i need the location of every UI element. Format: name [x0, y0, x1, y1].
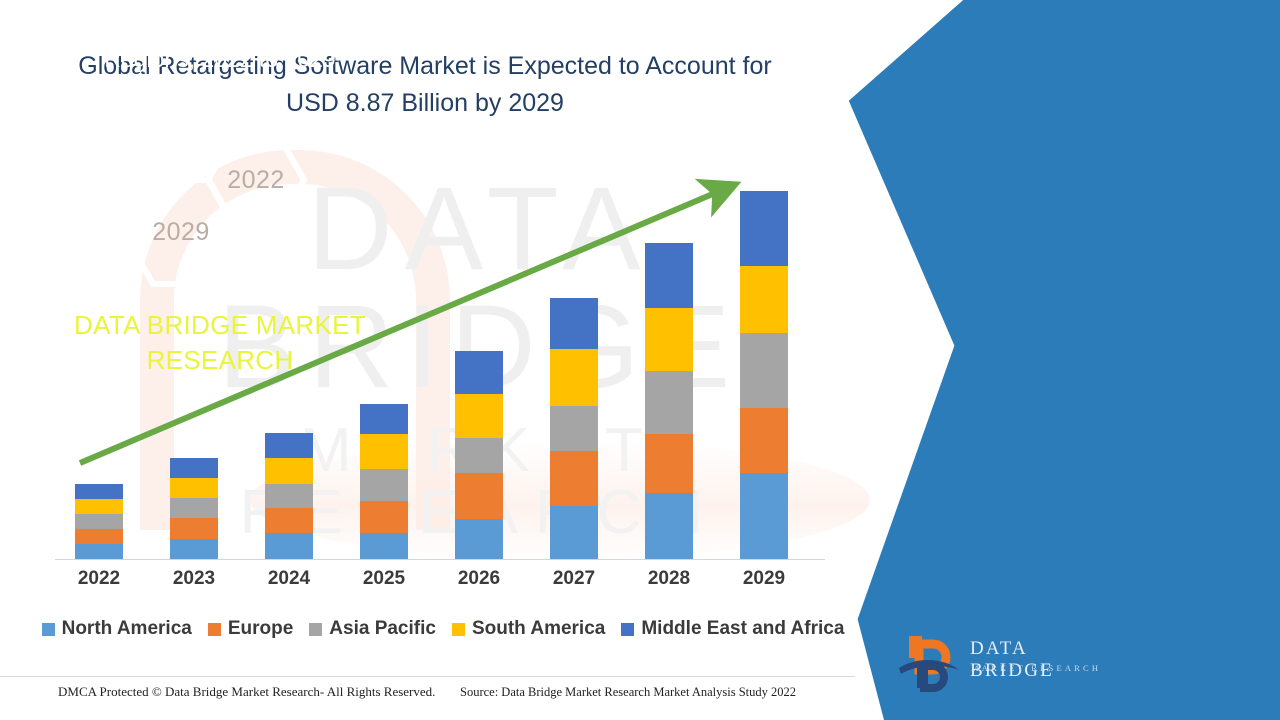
bar-segment-asia-pacific[interactable]	[75, 514, 123, 529]
dbmr-mark-icon	[895, 632, 967, 692]
legend-label: Asia Pacific	[329, 618, 436, 640]
bar-segment-middle-east-and-africa[interactable]	[740, 191, 788, 266]
footer-divider	[0, 676, 855, 677]
bar-segment-asia-pacific[interactable]	[265, 484, 313, 508]
x-axis-label-2023: 2023	[154, 568, 234, 590]
bar-segment-middle-east-and-africa[interactable]	[550, 298, 598, 349]
bar-segment-middle-east-and-africa[interactable]	[645, 243, 693, 308]
bar-segment-south-america[interactable]	[360, 434, 408, 469]
x-axis-label-2027: 2027	[534, 568, 614, 590]
bar-segment-europe[interactable]	[740, 408, 788, 473]
bar-segment-north-america[interactable]	[740, 473, 788, 559]
legend-swatch	[309, 623, 322, 636]
bar-segment-europe[interactable]	[645, 434, 693, 493]
hexagon-group: 2029 2022	[120, 132, 340, 292]
bar-2022[interactable]	[75, 484, 123, 559]
bar-segment-south-america[interactable]	[170, 478, 218, 498]
bar-segment-asia-pacific[interactable]	[740, 333, 788, 408]
bar-segment-middle-east-and-africa[interactable]	[170, 458, 218, 478]
bar-segment-north-america[interactable]	[455, 519, 503, 559]
x-axis-line	[55, 559, 825, 560]
bar-segment-europe[interactable]	[265, 508, 313, 533]
logo-wordmark: DATA BRIDGE	[970, 638, 1110, 682]
bar-segment-asia-pacific[interactable]	[455, 438, 503, 473]
bar-segment-asia-pacific[interactable]	[170, 498, 218, 518]
bar-segment-south-america[interactable]	[645, 308, 693, 371]
bar-segment-asia-pacific[interactable]	[360, 469, 408, 501]
bar-segment-north-america[interactable]	[75, 544, 123, 559]
bar-segment-europe[interactable]	[455, 473, 503, 519]
legend-item-south-america[interactable]: South America	[452, 618, 605, 640]
bar-segment-europe[interactable]	[550, 451, 598, 506]
x-axis-label-2028: 2028	[629, 568, 709, 590]
legend-item-europe[interactable]: Europe	[208, 618, 293, 640]
dbmr-logo: DATA BRIDGE MARKET RESEARCH	[895, 632, 1110, 694]
bar-segment-middle-east-and-africa[interactable]	[360, 404, 408, 434]
bar-segment-north-america[interactable]	[645, 493, 693, 559]
bar-segment-north-america[interactable]	[550, 506, 598, 559]
logo-subwordmark: MARKET RESEARCH	[971, 663, 1111, 673]
legend-label: Middle East and Africa	[641, 618, 844, 640]
bar-segment-middle-east-and-africa[interactable]	[455, 351, 503, 394]
hexagon-2022-label: 2022	[227, 166, 285, 195]
x-axis-labels: 20222023202420252026202720282029	[55, 568, 825, 598]
bar-segment-asia-pacific[interactable]	[550, 406, 598, 451]
bar-segment-middle-east-and-africa[interactable]	[75, 484, 123, 499]
x-axis-label-2022: 2022	[59, 568, 139, 590]
right-panel	[840, 0, 1280, 720]
legend-item-north-america[interactable]: North America	[42, 618, 192, 640]
bar-segment-south-america[interactable]	[75, 499, 123, 514]
x-axis-label-2026: 2026	[439, 568, 519, 590]
bar-segment-north-america[interactable]	[265, 533, 313, 559]
bar-2029[interactable]	[740, 191, 788, 559]
bar-2023[interactable]	[170, 458, 218, 559]
bar-2025[interactable]	[360, 404, 408, 559]
legend-swatch	[621, 623, 634, 636]
bar-2024[interactable]	[265, 433, 313, 559]
bar-segment-south-america[interactable]	[265, 458, 313, 484]
bar-segment-north-america[interactable]	[360, 533, 408, 559]
bar-segment-asia-pacific[interactable]	[645, 371, 693, 434]
bar-segment-north-america[interactable]	[170, 539, 218, 559]
bar-2026[interactable]	[455, 351, 503, 559]
bar-segment-europe[interactable]	[360, 501, 408, 533]
infographic-canvas: DATA BRIDGE MARKET RESEARCH Global Retar…	[0, 0, 1280, 720]
legend-item-asia-pacific[interactable]: Asia Pacific	[309, 618, 436, 640]
brand-name: DATA BRIDGE MARKET RESEARCH	[0, 308, 440, 378]
legend-label: North America	[62, 618, 192, 640]
footer-source: Source: Data Bridge Market Research Mark…	[460, 685, 796, 700]
legend-swatch	[208, 623, 221, 636]
bar-segment-south-america[interactable]	[550, 349, 598, 406]
legend-swatch	[452, 623, 465, 636]
footer-copyright: DMCA Protected © Data Bridge Market Rese…	[58, 684, 435, 700]
x-axis-label-2024: 2024	[249, 568, 329, 590]
bar-segment-south-america[interactable]	[455, 394, 503, 438]
bar-segment-europe[interactable]	[170, 518, 218, 539]
legend-label: Europe	[228, 618, 293, 640]
legend-swatch	[42, 623, 55, 636]
bar-segment-middle-east-and-africa[interactable]	[265, 433, 313, 458]
hexagon-2029-label: 2029	[152, 218, 210, 247]
legend-item-middle-east-and-africa[interactable]: Middle East and Africa	[621, 618, 844, 640]
bar-segment-europe[interactable]	[75, 529, 123, 544]
hexagon-2022: 2022	[204, 132, 308, 228]
bar-2027[interactable]	[550, 298, 598, 559]
chart-legend: North AmericaEuropeAsia PacificSouth Ame…	[48, 615, 838, 643]
bar-2028[interactable]	[645, 243, 693, 559]
bar-segment-south-america[interactable]	[740, 266, 788, 333]
x-axis-label-2029: 2029	[724, 568, 804, 590]
legend-label: South America	[472, 618, 605, 640]
right-panel-title: Global Retargeting Software Market, By R…	[0, 10, 440, 76]
x-axis-label-2025: 2025	[344, 568, 424, 590]
